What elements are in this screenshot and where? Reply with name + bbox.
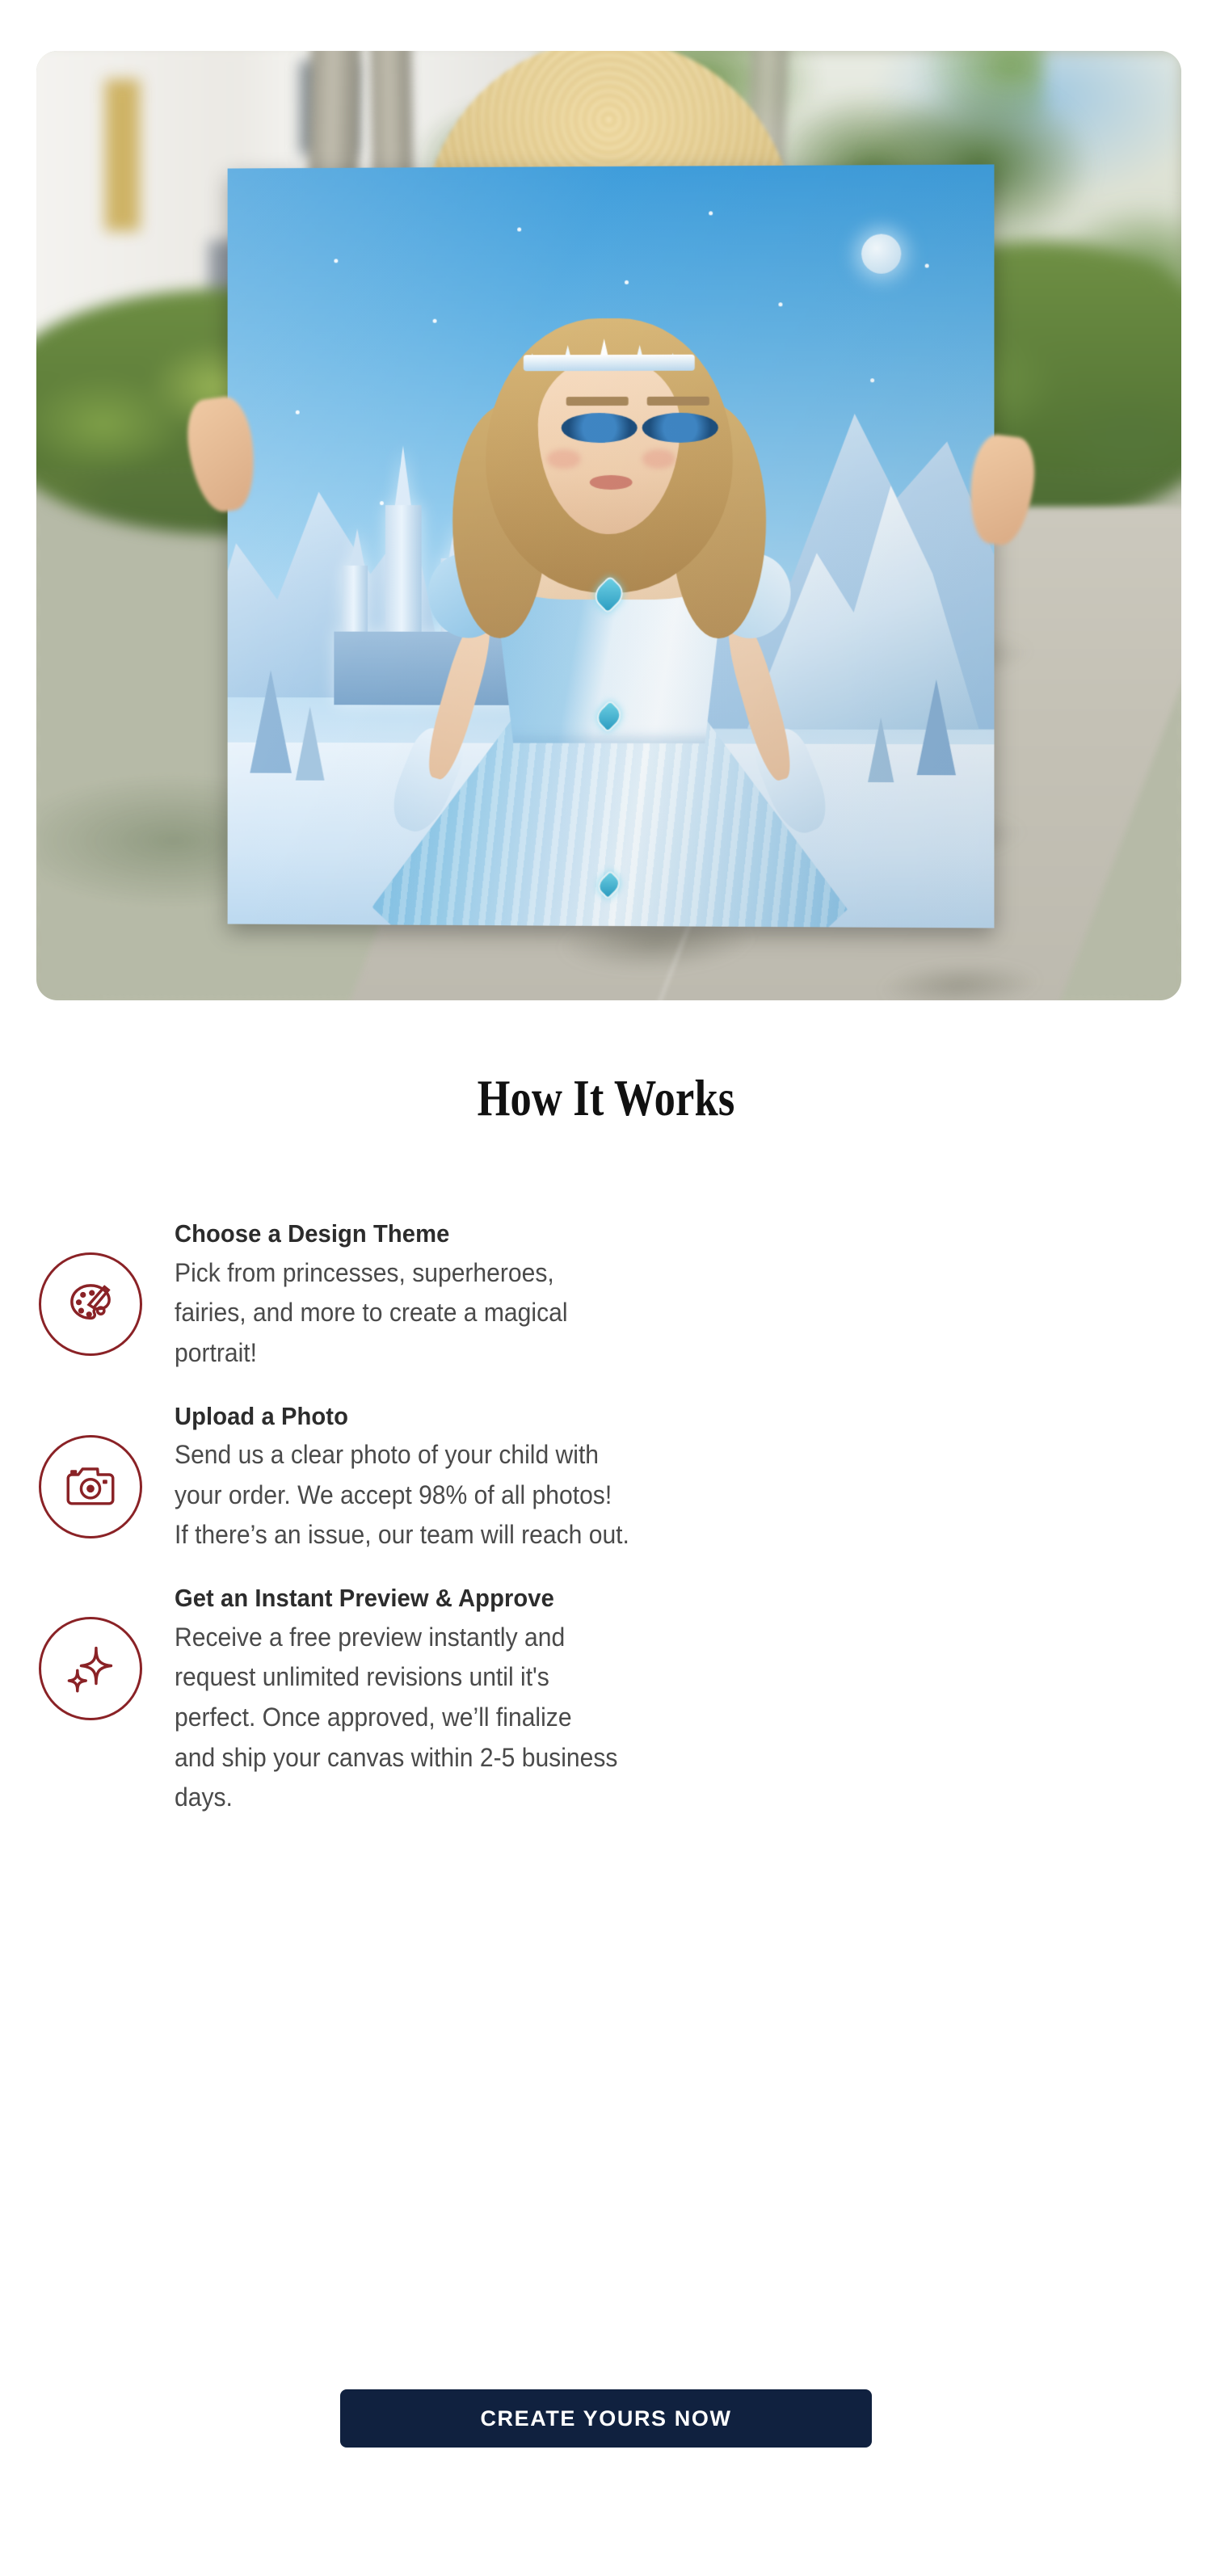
step-text: Upload a Photo Send us a clear photo of …	[175, 1401, 1041, 1556]
canvas-artwork	[227, 165, 994, 928]
snow-dot	[334, 259, 338, 263]
step-heading: Choose a Design Theme	[175, 1219, 989, 1250]
princess-brow-left	[566, 397, 628, 406]
building-window	[105, 79, 140, 231]
step-body: Receive a free preview instantly and req…	[175, 1618, 989, 1818]
tiara-band	[524, 355, 695, 371]
artwork-pine-tree	[296, 707, 325, 781]
hero-image	[36, 51, 1181, 1000]
princess-cheek-right	[642, 449, 675, 469]
hero-scene	[36, 51, 1181, 1000]
step-heading: Get an Instant Preview & Approve	[175, 1583, 989, 1614]
princess-brow-right	[647, 397, 709, 406]
artwork-princess	[372, 272, 848, 928]
princess-tiara	[524, 299, 695, 372]
princess-cheek-left	[547, 449, 580, 469]
castle-spire	[350, 528, 364, 566]
step-text: Get an Instant Preview & Approve Receive…	[175, 1583, 1041, 1818]
create-yours-now-button[interactable]: CREATE YOURS NOW	[340, 2389, 872, 2448]
page-title: How It Works	[109, 1068, 1103, 1128]
step-body: Send us a clear photo of your child with…	[175, 1435, 989, 1555]
step-item: Upload a Photo Send us a clear photo of …	[0, 1401, 1212, 1556]
step-heading: Upload a Photo	[175, 1401, 989, 1433]
step-item: Get an Instant Preview & Approve Receive…	[0, 1583, 1212, 1818]
how-it-works-steps: Choose a Design Theme Pick from princess…	[0, 1219, 1212, 1818]
artwork-pine-tree	[250, 671, 292, 774]
palette-icon	[39, 1252, 142, 1356]
camera-icon	[39, 1435, 142, 1538]
step-text: Choose a Design Theme Pick from princess…	[175, 1219, 1041, 1374]
cta-container: CREATE YOURS NOW	[0, 2389, 1212, 2448]
artwork-pine-tree	[868, 718, 894, 783]
step-body: Pick from princesses, superheroes, fairi…	[175, 1253, 989, 1374]
step-item: Choose a Design Theme Pick from princess…	[0, 1219, 1212, 1374]
artwork-pine-tree	[916, 680, 955, 776]
sparkles-icon	[39, 1617, 142, 1720]
